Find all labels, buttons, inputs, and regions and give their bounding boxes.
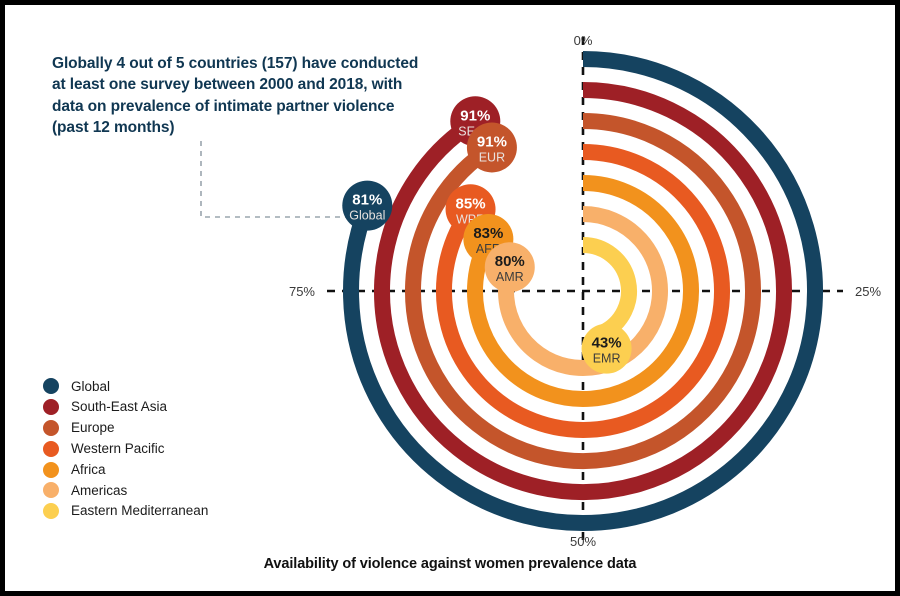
leader-line bbox=[201, 141, 367, 217]
bubble-value: 83% bbox=[473, 225, 503, 242]
legend-item-label: Global bbox=[71, 380, 110, 394]
axis-label-50: 50% bbox=[570, 534, 596, 549]
legend-item[interactable]: South-East Asia bbox=[43, 397, 208, 418]
legend-color-swatch bbox=[43, 378, 59, 394]
data-bubble-amr[interactable]: 80%AMR bbox=[485, 242, 535, 292]
legend-item-label: Western Pacific bbox=[71, 442, 165, 456]
bubble-value: 91% bbox=[477, 133, 507, 150]
legend-color-swatch bbox=[43, 420, 59, 436]
bubble-value: 43% bbox=[592, 335, 622, 352]
legend-color-swatch bbox=[43, 399, 59, 415]
legend-item-label: Africa bbox=[71, 463, 106, 477]
data-bubble-emr[interactable]: 43%EMR bbox=[582, 324, 632, 374]
legend-item-label: Americas bbox=[71, 484, 127, 498]
axis-label-25: 25% bbox=[855, 284, 881, 299]
legend-color-swatch bbox=[43, 462, 59, 478]
legend-color-swatch bbox=[43, 441, 59, 457]
legend-item-label: Eastern Mediterranean bbox=[71, 504, 208, 518]
legend-item[interactable]: Eastern Mediterranean bbox=[43, 501, 208, 522]
legend: Global South-East Asia Europe Western Pa… bbox=[43, 376, 208, 522]
bubble-region: Global bbox=[349, 209, 385, 223]
bubble-value: 80% bbox=[495, 253, 525, 270]
legend-item[interactable]: Americas bbox=[43, 480, 208, 501]
bubble-region: AMR bbox=[496, 270, 524, 284]
legend-item[interactable]: Western Pacific bbox=[43, 438, 208, 459]
data-bubble-eur[interactable]: 91%EUR bbox=[467, 122, 517, 172]
axis-label-0: 0% bbox=[574, 33, 593, 48]
legend-item[interactable]: Global bbox=[43, 376, 208, 397]
data-bubble-global[interactable]: 81%Global bbox=[342, 181, 392, 231]
legend-color-swatch bbox=[43, 503, 59, 519]
legend-item-label: South-East Asia bbox=[71, 400, 167, 414]
arc-emr bbox=[583, 245, 629, 333]
legend-item[interactable]: Europe bbox=[43, 418, 208, 439]
leader-line-path bbox=[201, 141, 367, 217]
legend-item-label: Europe bbox=[71, 421, 115, 435]
bubble-value: 91% bbox=[460, 107, 490, 124]
bubble-value: 85% bbox=[456, 195, 486, 212]
legend-color-swatch bbox=[43, 482, 59, 498]
axis-label-75: 75% bbox=[289, 284, 315, 299]
chart-caption: Availability of violence against women p… bbox=[5, 556, 895, 572]
bubble-region: EMR bbox=[593, 352, 621, 366]
legend-item[interactable]: Africa bbox=[43, 459, 208, 480]
bubble-value: 81% bbox=[352, 192, 382, 209]
infographic-page: Globally 4 out of 5 countries (157) have… bbox=[0, 0, 900, 596]
bubble-region: EUR bbox=[479, 150, 505, 164]
